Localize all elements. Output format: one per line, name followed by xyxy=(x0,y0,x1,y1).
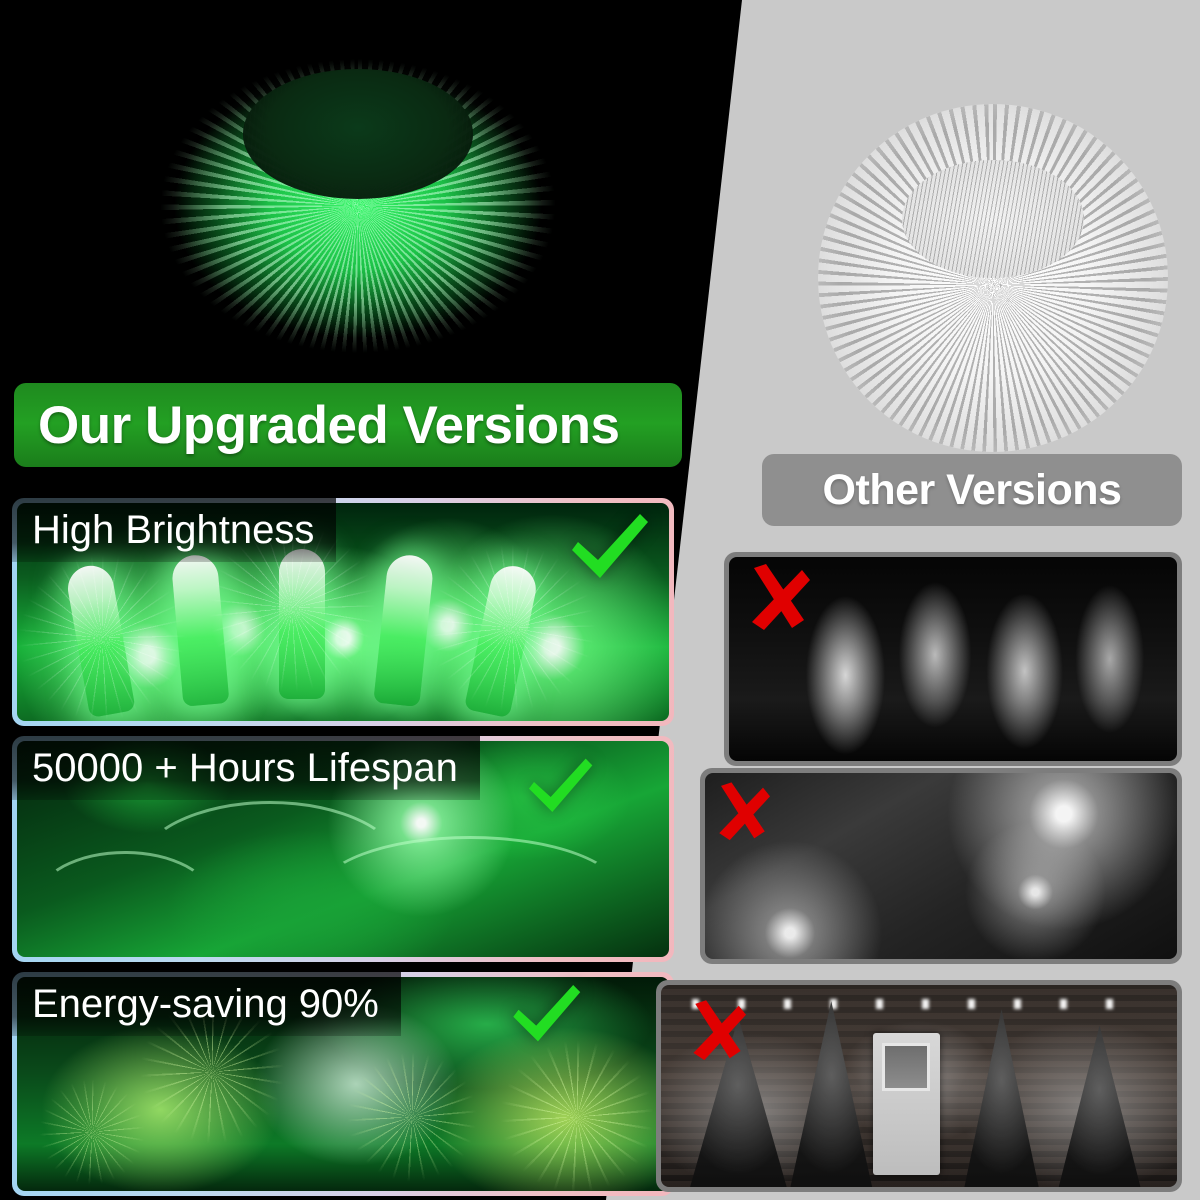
cross-mark-icon xyxy=(714,782,770,844)
grey-wire-lights-image xyxy=(705,773,1177,959)
feature-card-high-brightness: High Brightness xyxy=(12,498,674,726)
other-versions-banner: Other Versions xyxy=(762,454,1182,526)
check-mark-icon xyxy=(566,512,650,584)
feature-label-lifespan: 50000 + Hours Lifespan xyxy=(12,736,480,800)
other-card-3-label xyxy=(661,1187,662,1188)
other-card-house-scene xyxy=(656,980,1182,1192)
other-versions-label: Other Versions xyxy=(823,466,1122,515)
feature-card-energy-saving: Energy-saving 90% xyxy=(12,972,674,1196)
white-led-coil-hero-image xyxy=(818,104,1168,452)
green-led-coil-hero-image xyxy=(118,8,598,368)
our-upgraded-versions-label: Our Upgraded Versions xyxy=(38,395,619,456)
feature-card-lifespan: 50000 + Hours Lifespan xyxy=(12,736,674,962)
other-card-dim-wires xyxy=(700,768,1182,964)
feature-label-high-brightness: High Brightness xyxy=(12,498,336,562)
our-upgraded-versions-banner: Our Upgraded Versions xyxy=(14,383,682,467)
comparison-infographic: Our Upgraded Versions Other Versions Hig… xyxy=(0,0,1200,1200)
check-mark-icon xyxy=(524,756,594,818)
cross-mark-icon xyxy=(746,564,810,634)
other-card-dim-bulbs xyxy=(724,552,1182,766)
other-card-2-label xyxy=(705,959,706,960)
other-card-1-label xyxy=(729,761,730,762)
check-mark-icon xyxy=(508,982,582,1048)
feature-label-energy-saving: Energy-saving 90% xyxy=(12,972,401,1036)
cross-mark-icon xyxy=(688,1000,746,1064)
